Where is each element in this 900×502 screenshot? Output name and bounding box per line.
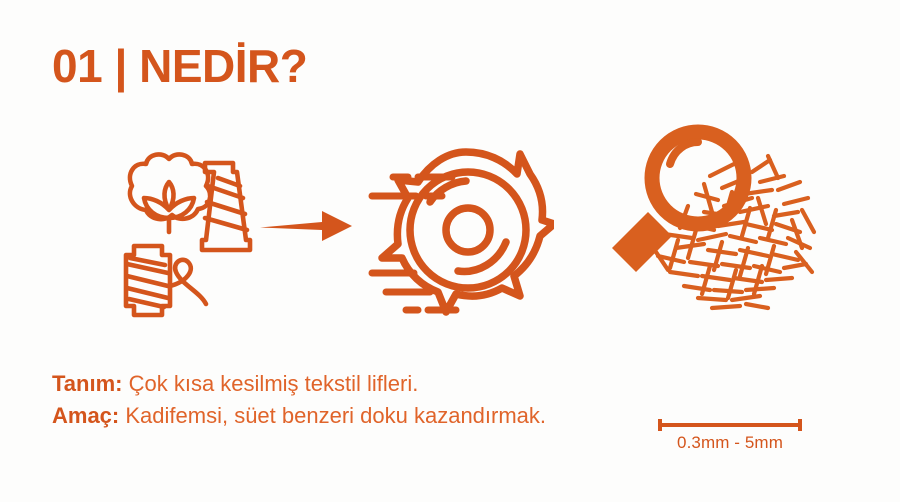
slide-canvas: 01 | NEDİR? <box>0 0 900 502</box>
fiber-source-icon <box>104 146 254 326</box>
magnifier-fibers-icon <box>592 120 822 330</box>
scale-label: 0.3mm - 5mm <box>650 433 810 453</box>
process-arrow-icon <box>258 204 354 248</box>
caption-value-purpose: Kadifemsi, süet benzeri doku kazandırmak… <box>125 403 546 428</box>
caption-line-definition: Tanım: Çok kısa kesilmiş tekstil lifleri… <box>52 368 852 400</box>
caption-value-definition: Çok kısa kesilmiş tekstil lifleri. <box>129 371 419 396</box>
caption-block: Tanım: Çok kısa kesilmiş tekstil lifleri… <box>52 368 852 432</box>
cutter-blade-icon <box>368 140 554 330</box>
caption-key-purpose: Amaç: <box>52 403 119 428</box>
page-title: 01 | NEDİR? <box>52 42 307 91</box>
caption-key-definition: Tanım: <box>52 371 122 396</box>
illustration-band: 0.3mm - 5mm <box>0 118 900 358</box>
caption-line-purpose: Amaç: Kadifemsi, süet benzeri doku kazan… <box>52 400 852 432</box>
